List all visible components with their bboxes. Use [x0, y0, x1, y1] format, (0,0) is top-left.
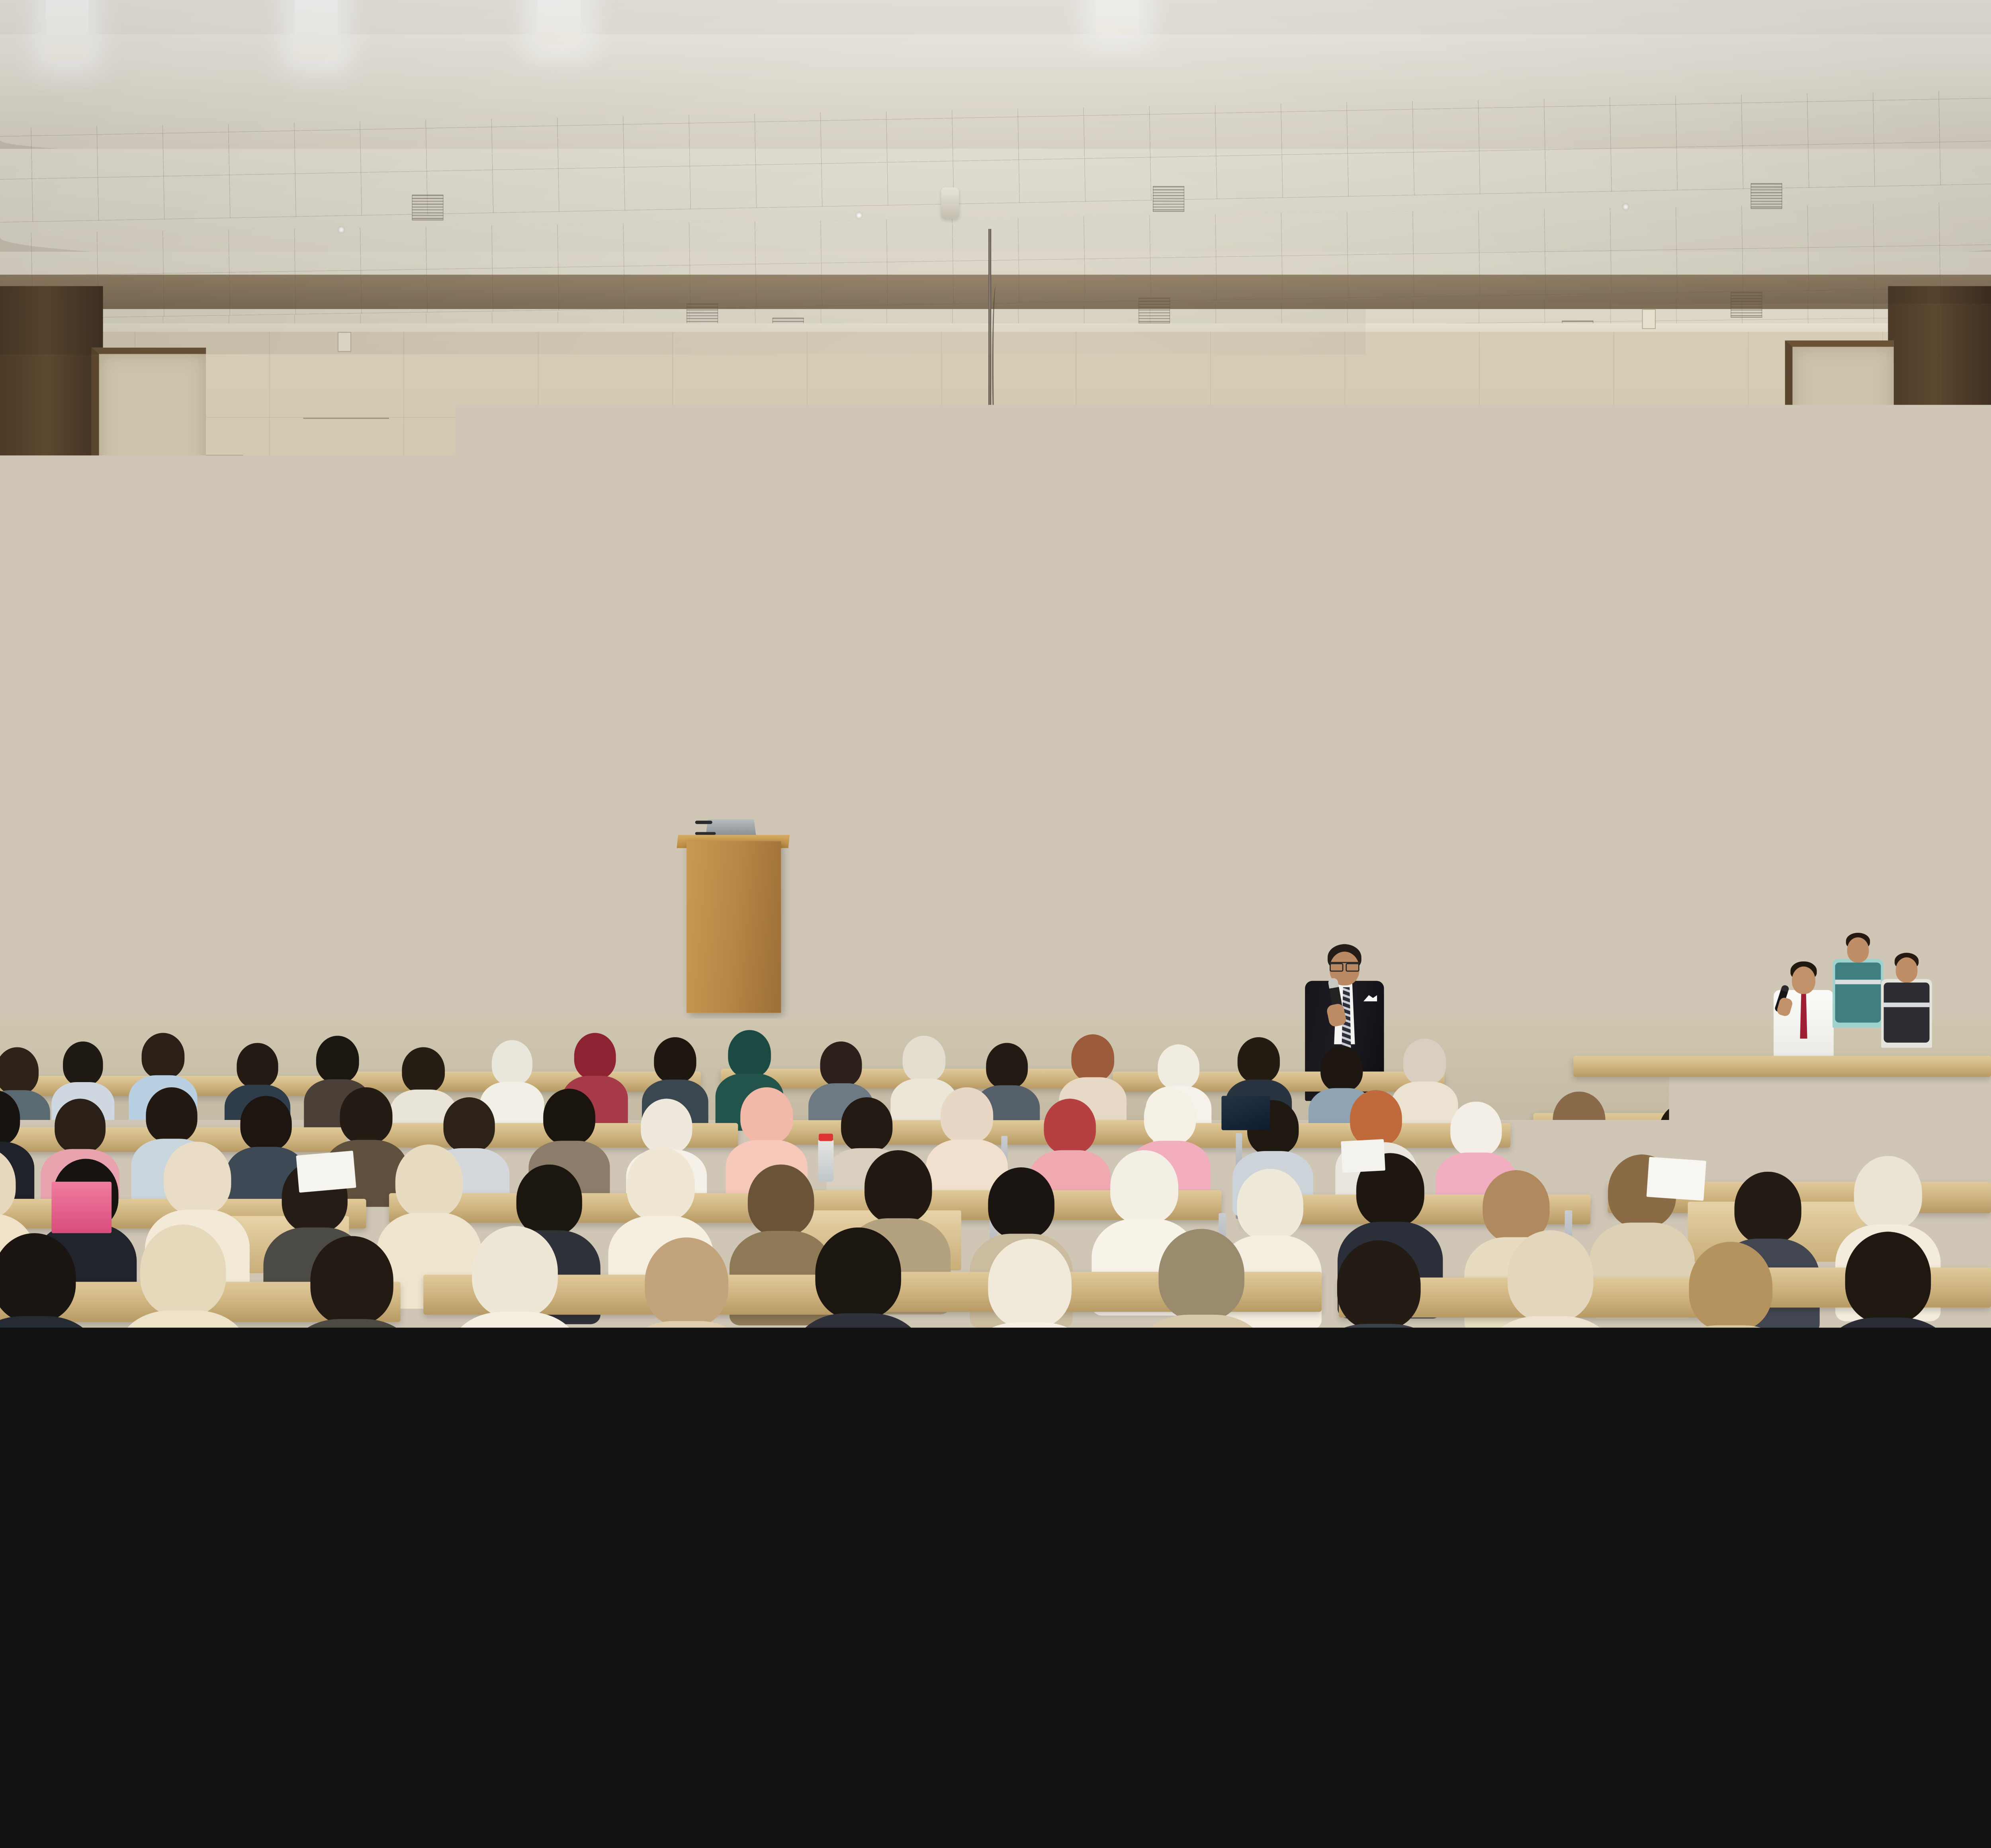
skylight-4 [1095, 0, 1138, 34]
draped-jacket [724, 728, 764, 822]
haqaa3-wordmark: HAQAA3 [910, 567, 952, 577]
presentation-slide: بداية جديدة لضمان جودة التعليم NAQAAE Ha… [839, 549, 1142, 752]
logo-oval: بداية جديدة لضمان جوده التعليم [232, 814, 317, 905]
african-union-flower-icon [1613, 827, 1632, 842]
logo-oval: بداية جديدة لضمان جوده التعليم [1593, 848, 1653, 906]
banner-headline: مبادرة بداية جديدة لضمان جودة التعليم ال… [110, 940, 445, 991]
wall-sensor-left [338, 332, 351, 352]
vision-flame-icon [1090, 600, 1113, 624]
haqaa3-logo: Harmonisation of African Higher Educatio… [910, 564, 990, 578]
authority-line: الهيئة القومية لضمان جودة التعليم والاعت… [1022, 572, 1087, 577]
rollup-line-2: الهيئة القومية لضمان جودة التعليم و الاع… [1574, 998, 1680, 1021]
lecture-bench-r4c [875, 1272, 1322, 1312]
water-bottle-1 [818, 1139, 834, 1182]
vision-pin-line-1: الارتقاء [1076, 668, 1127, 678]
wall-sensor-right [1642, 309, 1656, 329]
mobile-phone-2 [1035, 913, 1048, 922]
stage-side-table-1 [868, 913, 951, 973]
projector-mount-pole [988, 229, 991, 446]
notepad [877, 916, 898, 923]
naqaae-logo: بداية جديدة لضمان جودة التعليم NAQAAE [847, 555, 873, 587]
logo-acronym: NAQAAE [234, 905, 317, 926]
ceiling-projector [952, 440, 1018, 461]
egypt-vision-2030-logo: 20/30 رؤيــــة مصــر VISION OF EGYPT الا… [1070, 602, 1133, 737]
mobile-phone-1 [922, 914, 935, 922]
rollup-headline: مبادرة بداية جديدة لضمان جودة التعليم ال… [1574, 977, 1680, 1021]
ac-vent-5 [412, 195, 443, 221]
pink-tote-bag [51, 1182, 111, 1233]
vision-pin-shadow [1080, 730, 1123, 737]
stage-side-table-2 [981, 911, 1064, 971]
feather-icon [852, 555, 869, 577]
podium-microphone-1[interactable] [695, 820, 712, 824]
water-bottle-cap-1 [819, 1133, 833, 1141]
ceiling-downlight-3 [1622, 203, 1629, 211]
rollup-divider [1588, 844, 1648, 846]
handout-paper [1341, 1139, 1385, 1173]
handout-paper [1647, 1157, 1706, 1201]
ceiling-downlight-1 [338, 226, 345, 234]
lecture-bench-r1e [1573, 1056, 1991, 1077]
naqaae-brand-logo: بداية جديدة لضمان جوده التعليم NAQAAE [1593, 848, 1653, 918]
arab-league-seal-icon [881, 559, 906, 583]
naqaae-brand-logo: بداية جديدة لضمان جوده التعليم NAQAAE [232, 814, 317, 926]
volunteer-dark-vest [1880, 953, 1934, 1047]
logo-arabic-name: بداية [265, 859, 307, 886]
volunteer-teal-vest [1831, 933, 1885, 1027]
aisle-speaker-with-microphone [1771, 961, 1836, 1065]
wall-alcove-right [1785, 341, 1894, 827]
cabinet-line: رئاسة مجلس الوزراء [1022, 565, 1087, 572]
vision-pin-badge: الارتقاء بمنظومة التعليم [1075, 656, 1128, 711]
banner-line-2: الهيئة القومية لضمان جودة التعليم و الاع… [110, 965, 444, 991]
logo-arabic-name: بداية [1619, 877, 1646, 894]
logo-arabic-sub: جديدة لضمان جوده التعليم [1597, 897, 1651, 902]
logo-acronym: NAQAAE [1595, 905, 1653, 918]
vision-arabic: رؤيــــة مصــر [1070, 638, 1133, 646]
auditorium-scene: بداية جديدة لضمان جودة التعليم NAQAAE Ha… [0, 0, 1991, 1327]
podium-microphone-2[interactable] [695, 832, 716, 835]
naqaae-seal-icon [1091, 560, 1114, 582]
vision-pin-tip [1093, 710, 1109, 727]
egypt-eagle-emblem-icon [1118, 558, 1136, 584]
vision-pin-line-2: بمنظومة [1076, 678, 1127, 689]
banner-line-1: مبادرة بداية جديدة لضمان جودة التعليم [110, 940, 445, 968]
wall-power-outlet[interactable] [1292, 818, 1310, 835]
wooden-podium [686, 841, 781, 1013]
skylight-1 [46, 0, 89, 60]
slide-seg-2: الارتقاء بجودة المنظومة التعليمية [888, 599, 988, 607]
wall-switch-plate-left[interactable] [512, 609, 529, 632]
vision-pin-line-3: التعليم [1076, 689, 1127, 699]
rollup-line-1: مبادرة بداية جديدة لضمان جودة التعليم [1574, 977, 1680, 1000]
skylight-3 [538, 0, 581, 46]
naqaae-logo-sub: بداية جديدة لضمان جودة التعليم [847, 577, 873, 582]
ac-vent-6 [1153, 186, 1184, 212]
glasses [992, 913, 1010, 917]
logo-arabic-sub: جديدة لضمان جوده التعليم [237, 890, 315, 900]
potted-plant-right [1467, 812, 1553, 973]
ministry-seal-icon [94, 830, 147, 883]
glasses-icon [1329, 962, 1360, 968]
slide-seg-1: تستهدف رؤية مصر 2030 [988, 599, 1068, 607]
handout-paper [296, 1151, 356, 1193]
eagle-of-saladin-icon [822, 793, 859, 839]
slide-logo-row: بداية جديدة لضمان جودة التعليم NAQAAE Ha… [839, 554, 1142, 588]
wall-switch-plate-right[interactable] [1442, 607, 1459, 629]
smoke-detector-icon [941, 188, 959, 219]
egypt-eagle-emblem-icon [408, 813, 444, 863]
water-bottle-2 [1058, 1132, 1075, 1179]
ministry-seal-icon [1577, 827, 1593, 843]
laptop-in-audience[interactable] [1222, 1096, 1270, 1130]
ceiling-downlight-2 [855, 212, 863, 219]
vision-english: VISION OF EGYPT [1070, 646, 1133, 651]
egypt-eagle-emblem-icon [1652, 825, 1666, 843]
vision-year: 20/30 [1070, 623, 1133, 639]
slide-government-caption: رئاسة مجلس الوزراء الهيئة القومية لضمان … [1022, 565, 1087, 577]
slide-body-text: تستهدف رؤية مصر 2030 الارتقاء بجودة المن… [848, 595, 1068, 682]
slide-right-logo-group: رئاسة مجلس الوزراء الهيئة القومية لضمان … [1022, 558, 1136, 584]
skylight-2 [295, 0, 338, 60]
projection-screen-case [790, 499, 1187, 512]
projector-cable [992, 286, 999, 446]
naqaae-logo-label: NAQAAE [847, 583, 873, 587]
rollup-top-logo-row [1561, 825, 1682, 844]
naqaae-rollup-banner: بداية جديدة لضمان جوده التعليم NAQAAE مب… [1561, 818, 1689, 1047]
ac-vent-7 [1751, 183, 1782, 209]
